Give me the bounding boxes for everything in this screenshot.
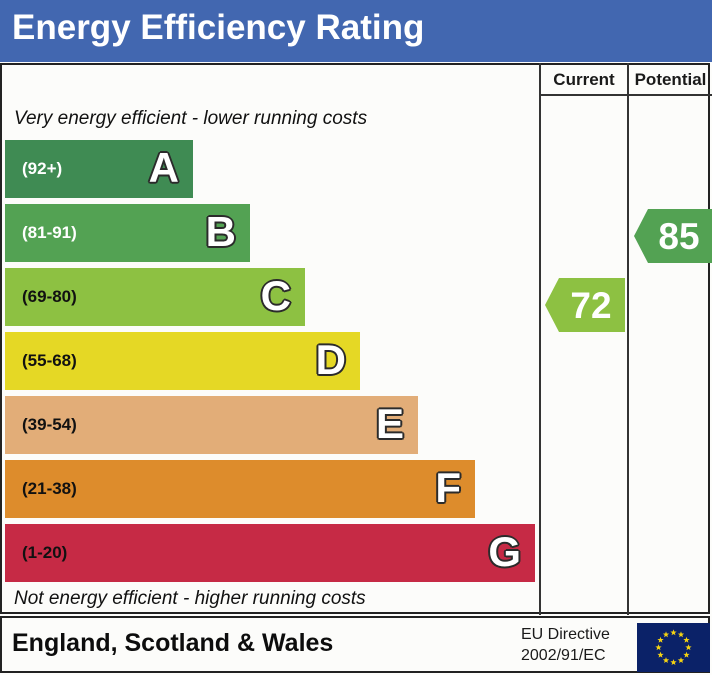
band-bars-container: (92+)A(81-91)B(69-80)C(55-68)D(39-54)E(2… xyxy=(0,0,539,675)
potential-rating-value: 85 xyxy=(646,218,699,255)
band-range-a: (92+) xyxy=(22,159,62,179)
eu-directive-line1: EU Directive xyxy=(521,624,610,645)
column-divider-current xyxy=(539,63,541,615)
eu-directive-line2: 2002/91/EC xyxy=(521,645,610,666)
band-bar-a: (92+)A xyxy=(5,140,193,198)
column-header-potential: Potential xyxy=(629,70,712,90)
current-rating-value: 72 xyxy=(558,287,611,324)
band-letter-g: G xyxy=(488,531,521,573)
band-range-e: (39-54) xyxy=(22,415,77,435)
band-range-c: (69-80) xyxy=(22,287,77,307)
band-bar-f: (21-38)F xyxy=(5,460,475,518)
column-header-underline xyxy=(539,94,712,96)
band-bar-e: (39-54)E xyxy=(5,396,418,454)
band-bar-d: (55-68)D xyxy=(5,332,360,390)
band-range-g: (1-20) xyxy=(22,543,67,563)
band-bar-c: (69-80)C xyxy=(5,268,305,326)
potential-rating-badge: 85 xyxy=(634,209,712,263)
current-rating-badge: 72 xyxy=(545,278,625,332)
band-letter-c: C xyxy=(261,275,291,317)
energy-efficiency-rating-chart: Energy Efficiency Rating Current Potenti… xyxy=(0,0,712,675)
band-letter-f: F xyxy=(435,467,461,509)
column-divider-potential xyxy=(627,63,629,615)
band-letter-e: E xyxy=(376,403,404,445)
band-bar-b: (81-91)B xyxy=(5,204,250,262)
column-header-current: Current xyxy=(541,70,627,90)
footer-region-label: England, Scotland & Wales xyxy=(12,629,333,658)
band-letter-a: A xyxy=(149,147,179,189)
eu-flag-icon xyxy=(637,623,710,672)
band-letter-d: D xyxy=(316,339,346,381)
band-range-b: (81-91) xyxy=(22,223,77,243)
band-letter-b: B xyxy=(206,211,236,253)
band-bar-g: (1-20)G xyxy=(5,524,535,582)
footer-eu-directive: EU Directive 2002/91/EC xyxy=(521,624,610,666)
band-range-f: (21-38) xyxy=(22,479,77,499)
band-range-d: (55-68) xyxy=(22,351,77,371)
